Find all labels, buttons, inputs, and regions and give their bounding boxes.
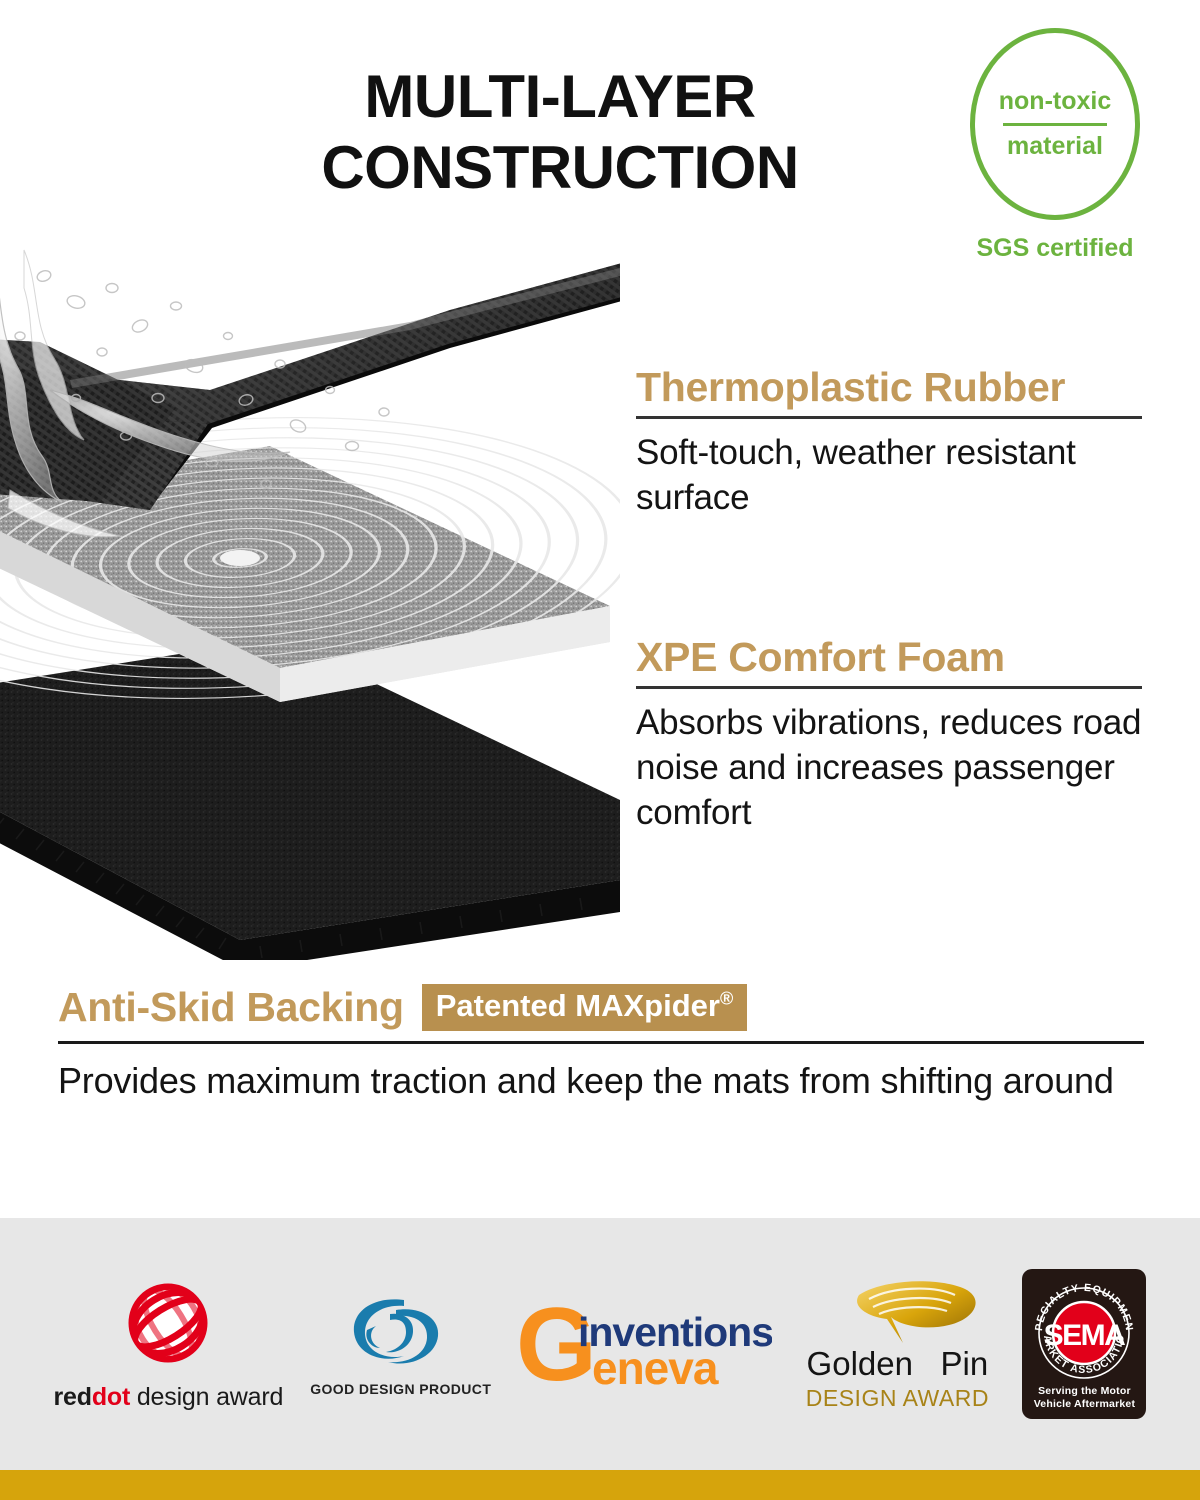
sema-caption-line-2: Vehicle Aftermarket (1034, 1398, 1135, 1411)
feature-thermoplastic-rubber: Thermoplastic Rubber Soft-touch, weather… (636, 366, 1148, 521)
reddot-caption-dot: dot (92, 1383, 130, 1411)
anti-skid-divider (58, 1041, 1144, 1044)
award-reddot-design-award: reddot design award (54, 1277, 284, 1412)
anti-skid-body: Provides maximum traction and keep the m… (58, 1058, 1144, 1103)
patented-maxpider-badge: Patented MAXpider® (422, 984, 747, 1031)
page-title: MULTI-LAYER CONSTRUCTION (270, 62, 850, 204)
reddot-caption-rest: design award (130, 1383, 283, 1411)
registered-trademark-icon: ® (720, 989, 733, 1009)
feature-2-divider (636, 686, 1142, 689)
sema-seal-icon: SPECIALTY EQUIPMENT MARKET ASSOCIATION S… (1028, 1275, 1140, 1383)
feature-2-body: Absorbs vibrations, reduces road noise a… (636, 701, 1148, 835)
geneva-word-eneva: eneva (592, 1342, 719, 1390)
golden-pin-word-2: Pin (940, 1345, 988, 1382)
inventions-geneva-icon: G inventions eneva (518, 1298, 772, 1390)
patented-maxpider-text: Patented MAXpider (436, 988, 720, 1023)
product-layers-svg (0, 240, 620, 960)
awards-logo-row: reddot design award GOOD DESIGN PRODUCT … (0, 1218, 1200, 1470)
award-good-design-product: GOOD DESIGN PRODUCT (310, 1292, 491, 1397)
awards-footer: reddot design award GOOD DESIGN PRODUCT … (0, 1218, 1200, 1470)
infographic-page: MULTI-LAYER CONSTRUCTION non-toxic mater… (0, 0, 1200, 1500)
sema-center-text: SEMA (1044, 1319, 1126, 1352)
anti-skid-heading-row: Anti-Skid Backing Patented MAXpider® (58, 984, 1144, 1031)
non-toxic-badge: non-toxic material SGS certified (955, 28, 1155, 263)
award-inventions-geneva: G inventions eneva (518, 1298, 772, 1390)
reddot-caption: reddot design award (54, 1383, 284, 1412)
sgs-certified-label: SGS certified (955, 234, 1155, 263)
page-title-line-1: MULTI-LAYER (270, 62, 850, 133)
good-design-gd-icon (346, 1292, 456, 1374)
page-title-line-2: CONSTRUCTION (270, 133, 850, 204)
anti-skid-heading: Anti-Skid Backing (58, 984, 404, 1031)
award-sema: SPECIALTY EQUIPMENT MARKET ASSOCIATION S… (1022, 1269, 1146, 1419)
bottom-gold-bar (0, 1470, 1200, 1500)
feature-xpe-comfort-foam: XPE Comfort Foam Absorbs vibrations, red… (636, 636, 1148, 835)
non-toxic-badge-oval: non-toxic material (970, 28, 1140, 220)
sema-caption-line-1: Serving the Motor (1034, 1385, 1135, 1398)
product-layer-illustration (0, 240, 620, 960)
feature-1-heading: Thermoplastic Rubber (636, 366, 1148, 409)
non-toxic-badge-line-2: material (1007, 133, 1103, 161)
non-toxic-badge-line-1: non-toxic (999, 88, 1112, 116)
feature-2-heading: XPE Comfort Foam (636, 636, 1148, 679)
feature-1-divider (636, 416, 1142, 419)
golden-pin-swoosh-icon (799, 1277, 995, 1347)
award-golden-pin: Golden Pin DESIGN AWARD (799, 1277, 995, 1412)
feature-1-body: Soft-touch, weather resistant surface (636, 431, 1148, 521)
non-toxic-badge-divider (1003, 123, 1107, 126)
sema-card: SPECIALTY EQUIPMENT MARKET ASSOCIATION S… (1022, 1269, 1146, 1419)
reddot-sphere-icon (120, 1277, 216, 1373)
sema-caption: Serving the Motor Vehicle Aftermarket (1034, 1385, 1135, 1411)
golden-pin-caption: DESIGN AWARD (806, 1385, 989, 1412)
feature-anti-skid-backing: Anti-Skid Backing Patented MAXpider® Pro… (58, 984, 1144, 1103)
reddot-caption-red: red (54, 1383, 92, 1411)
good-design-caption: GOOD DESIGN PRODUCT (310, 1381, 491, 1397)
golden-pin-word-1: Golden (807, 1345, 913, 1382)
golden-pin-wordmark: Golden Pin (807, 1347, 989, 1380)
